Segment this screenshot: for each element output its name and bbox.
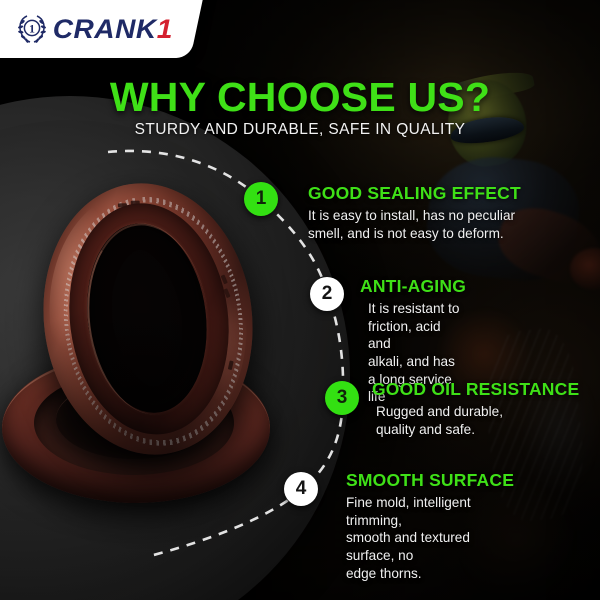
- feature-text-3: GOOD OIL RESISTANCE Rugged and durable, …: [372, 379, 579, 438]
- feature-heading-1: GOOD SEALING EFFECT: [308, 183, 521, 204]
- feature-body-line: It is easy to install, has no peculiar: [308, 207, 521, 225]
- laurel-wreath-icon: 1: [14, 11, 50, 47]
- feature-text-1: GOOD SEALING EFFECT It is easy to instal…: [308, 183, 521, 242]
- infographic-canvas: 1 CRANK1 WHY CHOOSE US? STURDY AND DURAB…: [0, 0, 600, 600]
- feature-heading-4: SMOOTH SURFACE: [346, 470, 514, 491]
- feature-body-line: It is resistant to friction, acid and: [368, 300, 466, 353]
- brand-name-accent: 1: [157, 14, 173, 44]
- oil-seal-marking: [131, 201, 140, 205]
- product-oil-seals: [0, 175, 290, 525]
- feature-body-4: Fine mold, intelligent trimming, smooth …: [346, 494, 514, 582]
- feature-text-4: SMOOTH SURFACE Fine mold, intelligent tr…: [346, 470, 514, 582]
- feature-badge-4: 4: [284, 472, 318, 506]
- feature-badge-1: 1: [244, 182, 278, 216]
- feature-heading-3: GOOD OIL RESISTANCE: [372, 379, 579, 400]
- feature-body-line: quality and safe.: [376, 421, 579, 439]
- feature-body-3: Rugged and durable, quality and safe.: [376, 403, 579, 438]
- feature-body-line: smell, and is not easy to deform.: [308, 225, 521, 243]
- brand-wordmark: CRANK1: [53, 16, 173, 43]
- feature-body-line: Rugged and durable,: [376, 403, 579, 421]
- feature-badge-3: 3: [325, 381, 359, 415]
- oil-seal-standing: [28, 171, 268, 466]
- feature-body-line: smooth and textured surface, no: [346, 529, 514, 564]
- feature-heading-2: ANTI-AGING: [360, 276, 466, 297]
- page-title: WHY CHOOSE US?: [0, 74, 600, 121]
- wreath-number: 1: [29, 22, 35, 36]
- brand-name-main: CRANK: [53, 14, 157, 44]
- feature-body-line: edge thorns.: [346, 565, 514, 583]
- feature-badge-2: 2: [310, 277, 344, 311]
- oil-seal-marking: [118, 203, 127, 207]
- page-subtitle: STURDY AND DURABLE, SAFE IN QUALITY: [0, 121, 600, 139]
- feature-body-1: It is easy to install, has no peculiar s…: [308, 207, 521, 242]
- feature-body-line: Fine mold, intelligent trimming,: [346, 494, 514, 529]
- brand-logo[interactable]: 1 CRANK1: [14, 8, 171, 50]
